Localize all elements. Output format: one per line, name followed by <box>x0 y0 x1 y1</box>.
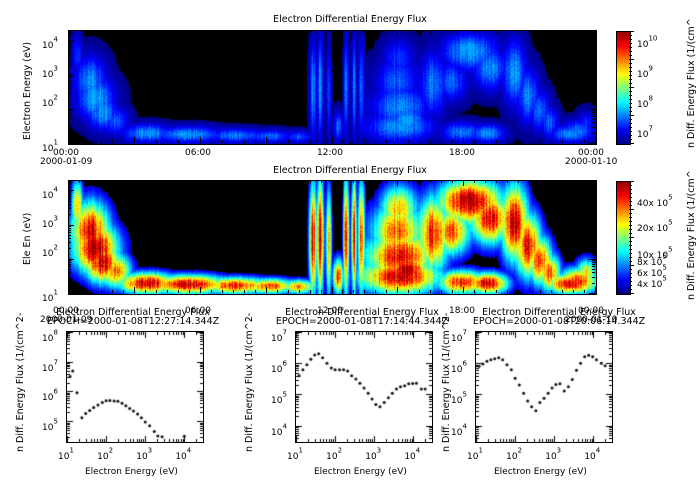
spectrum-2-ytick-mant: 10 <box>271 365 282 375</box>
axis-tick <box>68 228 71 229</box>
axis-tick <box>397 137 398 143</box>
spectrum-1-ytick-exp: 6 <box>53 388 57 396</box>
spectrum-3-ytick-exp: 7 <box>462 329 466 337</box>
axis-tick <box>629 39 632 40</box>
axis-tick <box>277 180 278 183</box>
axis-tick <box>518 140 519 143</box>
spectrum-1-xtick-exp: 3 <box>148 447 152 455</box>
panel2-ytick-3-exp: 1 <box>53 289 57 297</box>
panel2-spectrogram <box>68 180 597 295</box>
axis-tick <box>288 140 289 143</box>
axis-tick <box>68 92 71 93</box>
axis-tick <box>485 30 486 33</box>
axis-tick <box>592 272 595 273</box>
panel2-ytick-0-exp: 4 <box>53 186 57 194</box>
axis-tick <box>90 180 91 183</box>
spectrum-3-ytick: 104 <box>451 420 467 439</box>
axis-tick <box>332 30 333 36</box>
axis-tick <box>178 180 179 183</box>
panel2-cbtick-5-suffix: x 10 <box>643 280 663 290</box>
axis-tick <box>342 140 343 143</box>
spectrum-2-xtick-mant: 10 <box>326 452 337 462</box>
axis-tick <box>592 42 595 43</box>
spectrum-3-xtick: 104 <box>584 444 600 463</box>
panel2-ytick-0-mant: 10 <box>42 191 53 201</box>
axis-tick <box>90 290 91 293</box>
spectrum-1-xtick-mant: 10 <box>175 452 186 462</box>
axis-tick <box>485 140 486 143</box>
axis-tick <box>68 42 71 43</box>
spectrum-1-ytick-mant: 10 <box>42 393 53 403</box>
axis-tick <box>592 277 595 278</box>
axis-tick <box>592 204 595 205</box>
axis-tick <box>629 95 632 96</box>
panel2-ytick-1-exp: 3 <box>53 215 57 223</box>
axis-tick <box>68 114 71 115</box>
axis-tick <box>364 140 365 143</box>
axis-tick <box>496 140 497 143</box>
axis-tick <box>629 123 632 124</box>
axis-tick <box>629 189 632 190</box>
axis-tick <box>156 140 157 143</box>
axis-tick <box>68 112 71 113</box>
axis-tick <box>332 137 333 143</box>
axis-tick <box>299 140 300 143</box>
axis-tick <box>364 290 365 293</box>
axis-tick <box>68 260 71 261</box>
axis-tick <box>507 140 508 143</box>
spectrum-3-ytick-mant: 10 <box>451 334 462 344</box>
axis-tick <box>68 204 71 205</box>
axis-tick <box>68 98 71 99</box>
axis-tick <box>189 140 190 143</box>
axis-tick <box>562 140 563 143</box>
axis-tick <box>178 140 179 143</box>
axis-tick <box>156 290 157 293</box>
axis-tick <box>68 272 71 273</box>
spectrum-1-ytick: 107 <box>42 356 58 375</box>
axis-tick <box>592 85 595 86</box>
axis-tick <box>134 30 135 36</box>
spectrum-2-ylabel: n Diff. Energy Flux (1/(cm^2- <box>244 313 255 452</box>
axis-tick <box>551 180 552 183</box>
axis-tick <box>408 140 409 143</box>
axis-tick <box>310 140 311 143</box>
axis-tick <box>189 180 190 183</box>
axis-tick <box>408 290 409 293</box>
axis-tick <box>592 248 595 249</box>
panel2-cbtick-0-suffix: x 10 <box>648 199 668 209</box>
axis-tick <box>589 143 595 144</box>
axis-tick <box>629 75 632 76</box>
axis-tick <box>592 122 595 123</box>
axis-tick <box>584 180 585 183</box>
axis-tick <box>474 180 475 183</box>
axis-tick <box>629 269 632 270</box>
spectrum-1-xtick: 101 <box>58 444 74 463</box>
axis-tick <box>255 30 256 33</box>
axis-tick <box>79 180 80 183</box>
spectrum-1-ylabel: n Diff. Energy Flux (1/(cm^2- <box>15 313 26 452</box>
axis-tick <box>629 281 632 282</box>
axis-tick <box>592 269 595 270</box>
axis-tick <box>629 209 634 210</box>
panel2-ytick-0: 104 <box>42 183 58 202</box>
axis-tick <box>629 205 632 206</box>
axis-tick <box>485 290 486 293</box>
axis-tick <box>299 180 300 183</box>
panel2-ytick-2: 102 <box>42 241 58 260</box>
axis-tick <box>68 109 74 110</box>
axis-tick <box>629 253 632 254</box>
axis-tick <box>589 225 595 226</box>
axis-tick <box>629 71 632 72</box>
spectrum-2-xtick-exp: 1 <box>298 447 302 455</box>
spectrum-2-axes <box>295 331 433 443</box>
axis-tick <box>353 180 354 183</box>
spectrum-2-ytick-exp: 7 <box>282 329 286 337</box>
axis-tick <box>288 180 289 183</box>
axis-tick <box>629 83 632 84</box>
axis-tick <box>68 214 71 215</box>
spectrum-2-xtick: 101 <box>287 444 303 463</box>
panel1-ytick-1-exp: 3 <box>53 65 57 73</box>
axis-tick <box>386 30 387 33</box>
spectrum-3-ytick-mant: 10 <box>451 365 462 375</box>
axis-tick <box>255 290 256 293</box>
axis-tick <box>266 180 267 186</box>
axis-tick <box>299 290 300 293</box>
axis-tick <box>321 140 322 143</box>
axis-tick <box>386 140 387 143</box>
axis-tick <box>518 290 519 293</box>
axis-tick <box>629 249 632 250</box>
spectrum-3-ytick-exp: 6 <box>462 360 466 368</box>
axis-tick <box>255 140 256 143</box>
axis-tick <box>629 51 632 52</box>
spectrum-2-ytick-mant: 10 <box>271 334 282 344</box>
axis-tick <box>266 30 267 36</box>
axis-tick <box>589 293 595 294</box>
axis-tick <box>244 290 245 293</box>
axis-tick <box>277 30 278 33</box>
spectrum-3-axes <box>475 331 613 443</box>
spectrum-1-xtick-mant: 10 <box>136 452 147 462</box>
axis-tick <box>68 208 71 209</box>
axis-tick <box>430 140 431 143</box>
axis-tick <box>68 225 74 226</box>
axis-tick <box>592 198 595 199</box>
axis-tick <box>551 140 552 143</box>
axis-tick <box>68 277 71 278</box>
axis-tick <box>200 287 201 293</box>
axis-tick <box>441 140 442 143</box>
axis-tick <box>145 140 146 143</box>
axis-tick <box>629 131 632 132</box>
axis-tick <box>592 260 595 261</box>
axis-tick <box>629 261 632 262</box>
panel2-cbtick-1: 20x 105 <box>637 216 673 235</box>
axis-tick <box>233 180 234 183</box>
axis-tick <box>419 180 420 183</box>
axis-tick <box>629 59 634 60</box>
axis-tick <box>629 237 634 238</box>
panel2-cbtick-4-exp: 5 <box>662 264 666 272</box>
axis-tick <box>101 180 102 183</box>
axis-tick <box>375 30 376 33</box>
axis-tick <box>68 44 71 45</box>
panel1-ytick-0-exp: 4 <box>53 36 57 44</box>
spectrum-2-xlabel: Electron Energy (eV) <box>314 467 407 477</box>
axis-tick <box>629 201 632 202</box>
axis-tick <box>474 290 475 293</box>
axis-tick <box>629 217 632 218</box>
axis-tick <box>529 137 530 143</box>
panel1-xtick-1: 06:00 <box>185 148 211 158</box>
axis-tick <box>629 87 634 88</box>
spectrum-2-ytick-exp: 5 <box>282 391 286 399</box>
spectrum-3-xtick-mant: 10 <box>467 452 478 462</box>
figure-root: Electron Differential Energy Flux Electr… <box>0 0 697 492</box>
axis-tick <box>310 30 311 33</box>
axis-tick <box>332 180 333 186</box>
axis-tick <box>68 143 74 144</box>
spectrum-1-ytick: 106 <box>42 385 58 404</box>
axis-tick <box>68 266 71 267</box>
spectrum-1-ytick-mant: 10 <box>42 334 53 344</box>
axis-tick <box>79 290 80 293</box>
panel2-cbtick-3-exp: 5 <box>662 253 666 261</box>
axis-tick <box>540 290 541 293</box>
axis-tick <box>589 190 595 191</box>
spectrum-1-xtick-mant: 10 <box>58 452 69 462</box>
panel1-cbtick-2-exp: 8 <box>648 95 652 103</box>
axis-tick <box>592 133 595 134</box>
spectrum-1-xtick: 102 <box>97 444 113 463</box>
axis-tick <box>430 30 431 33</box>
panel1-ytick-3-mant: 10 <box>42 144 53 154</box>
axis-tick <box>310 290 311 293</box>
axis-tick <box>629 47 632 48</box>
axis-tick <box>592 114 595 115</box>
panel2-cbtick-1-suffix: x 10 <box>648 224 668 234</box>
panel1-cbtick-2: 108 <box>637 92 653 111</box>
axis-tick <box>592 235 595 236</box>
axis-tick <box>79 140 80 143</box>
panel1-ylabel: Electron Energy (eV) <box>22 42 33 140</box>
axis-tick <box>310 180 311 183</box>
axis-tick <box>595 30 596 36</box>
axis-tick <box>145 290 146 293</box>
axis-tick <box>101 140 102 143</box>
axis-tick <box>592 92 595 93</box>
spectrum-3-xlabel: Electron Energy (eV) <box>494 467 587 477</box>
axis-tick <box>68 190 74 191</box>
spectrum-1-xtick: 103 <box>136 444 152 463</box>
axis-tick <box>419 290 420 293</box>
spectrum-3-xtick-exp: 4 <box>596 447 600 455</box>
axis-tick <box>353 30 354 33</box>
spectrum-1-ytick-exp: 8 <box>53 329 57 337</box>
axis-tick <box>629 63 632 64</box>
axis-tick <box>68 30 69 36</box>
axis-tick <box>90 30 91 33</box>
axis-tick <box>342 180 343 183</box>
panel2-ytick-3-mant: 10 <box>42 294 53 304</box>
axis-tick <box>68 76 71 77</box>
spectrum-2-xtick-exp: 3 <box>377 447 381 455</box>
spectrum-1-epoch: EPOCH=2000-01-08T12:27:14.344Z <box>33 316 233 327</box>
spectrum-2-xtick-exp: 4 <box>416 447 420 455</box>
axis-tick <box>364 180 365 183</box>
panel1-title: Electron Differential Energy Flux <box>255 14 445 25</box>
axis-tick <box>68 82 71 83</box>
axis-tick <box>167 290 168 293</box>
spectrum-3-ytick-mant: 10 <box>451 428 462 438</box>
axis-tick <box>419 140 420 143</box>
panel1-ytick-3-exp: 1 <box>53 139 57 147</box>
axis-tick <box>629 119 632 120</box>
axis-tick <box>629 99 632 100</box>
axis-tick <box>592 82 595 83</box>
axis-tick <box>68 198 71 199</box>
axis-tick <box>211 140 212 143</box>
axis-tick <box>68 40 74 41</box>
axis-tick <box>397 30 398 36</box>
axis-tick <box>123 180 124 183</box>
spectrum-2-ytick: 104 <box>271 420 287 439</box>
axis-tick <box>629 265 634 266</box>
panel2-colorbar-label: n Diff. Energy Flux (1/(cm^ <box>686 170 697 300</box>
axis-tick <box>353 290 354 293</box>
axis-tick <box>629 181 634 182</box>
spectrum-3-xtick-mant: 10 <box>545 452 556 462</box>
spectrum-3-epoch: EPOCH=2000-01-08T20:06:14.344Z <box>459 316 659 327</box>
axis-tick <box>68 48 71 49</box>
axis-tick <box>592 54 595 55</box>
axis-tick <box>68 78 71 79</box>
axis-tick <box>353 140 354 143</box>
axis-tick <box>167 180 168 183</box>
axis-tick <box>629 225 632 226</box>
spectrum-2-xtick: 102 <box>326 444 342 463</box>
spectrum-2-epoch: EPOCH=2000-01-08T17:14:44.344Z <box>262 316 462 327</box>
panel1-xtick-2: 12:00 <box>317 148 343 158</box>
axis-tick <box>592 238 595 239</box>
axis-tick <box>452 30 453 33</box>
axis-tick <box>332 287 333 293</box>
axis-tick <box>123 140 124 143</box>
axis-tick <box>68 248 71 249</box>
panel1-ytick-0: 104 <box>42 33 58 52</box>
axis-tick <box>518 30 519 33</box>
axis-tick <box>474 140 475 143</box>
spectrum-1-xtick-exp: 4 <box>187 447 191 455</box>
axis-tick <box>592 242 595 243</box>
panel1-cbtick-1-exp: 9 <box>648 65 652 73</box>
axis-tick <box>68 196 71 197</box>
axis-tick <box>79 30 80 33</box>
axis-tick <box>573 180 574 183</box>
axis-tick <box>540 140 541 143</box>
axis-tick <box>592 48 595 49</box>
spectrum-2-xtick: 104 <box>404 444 420 463</box>
axis-tick <box>101 30 102 33</box>
axis-tick <box>592 264 595 265</box>
axis-tick <box>629 229 632 230</box>
spectrum-3-ytick: 106 <box>451 357 467 376</box>
axis-tick <box>222 140 223 143</box>
axis-tick <box>592 214 595 215</box>
axis-tick <box>474 30 475 33</box>
axis-tick <box>629 67 632 68</box>
axis-tick <box>68 262 71 263</box>
axis-tick <box>496 30 497 33</box>
spectrum-3-ytick-exp: 5 <box>462 391 466 399</box>
spectrum-3-xtick-mant: 10 <box>584 452 595 462</box>
axis-tick <box>592 98 595 99</box>
axis-tick <box>68 88 71 89</box>
axis-tick <box>629 213 632 214</box>
axis-tick <box>321 290 322 293</box>
axis-tick <box>592 112 595 113</box>
axis-tick <box>629 143 634 144</box>
axis-tick <box>629 35 632 36</box>
spectrum-3-xtick: 103 <box>545 444 561 463</box>
axis-tick <box>629 111 632 112</box>
panel2-cbtick-1-mant: 20 <box>637 224 648 234</box>
axis-tick <box>68 235 71 236</box>
axis-tick <box>629 79 632 80</box>
axis-tick <box>68 133 71 134</box>
panel1-cbtick-0-mant: 10 <box>637 40 648 50</box>
axis-tick <box>629 245 632 246</box>
axis-tick <box>589 109 595 110</box>
axis-tick <box>211 180 212 183</box>
spectrum-3-xtick-mant: 10 <box>506 452 517 462</box>
axis-tick <box>592 283 595 284</box>
panel1-ytick-2-mant: 10 <box>42 99 53 109</box>
axis-tick <box>68 232 71 233</box>
axis-tick <box>463 180 464 186</box>
axis-tick <box>375 180 376 183</box>
axis-tick <box>68 64 71 65</box>
axis-tick <box>68 180 69 186</box>
axis-tick <box>592 64 595 65</box>
axis-tick <box>134 180 135 186</box>
axis-tick <box>178 30 179 33</box>
axis-tick <box>629 289 632 290</box>
axis-tick <box>592 88 595 89</box>
axis-tick <box>397 287 398 293</box>
axis-tick <box>222 30 223 33</box>
axis-tick <box>408 30 409 33</box>
axis-tick <box>595 137 596 143</box>
axis-tick <box>189 290 190 293</box>
axis-tick <box>496 290 497 293</box>
axis-tick <box>452 180 453 183</box>
axis-tick <box>595 287 596 293</box>
axis-tick <box>592 226 595 227</box>
axis-tick <box>397 180 398 186</box>
axis-tick <box>112 290 113 293</box>
axis-tick <box>277 140 278 143</box>
axis-tick <box>342 30 343 33</box>
axis-tick <box>277 290 278 293</box>
axis-tick <box>255 180 256 183</box>
axis-tick <box>452 140 453 143</box>
axis-tick <box>156 30 157 33</box>
